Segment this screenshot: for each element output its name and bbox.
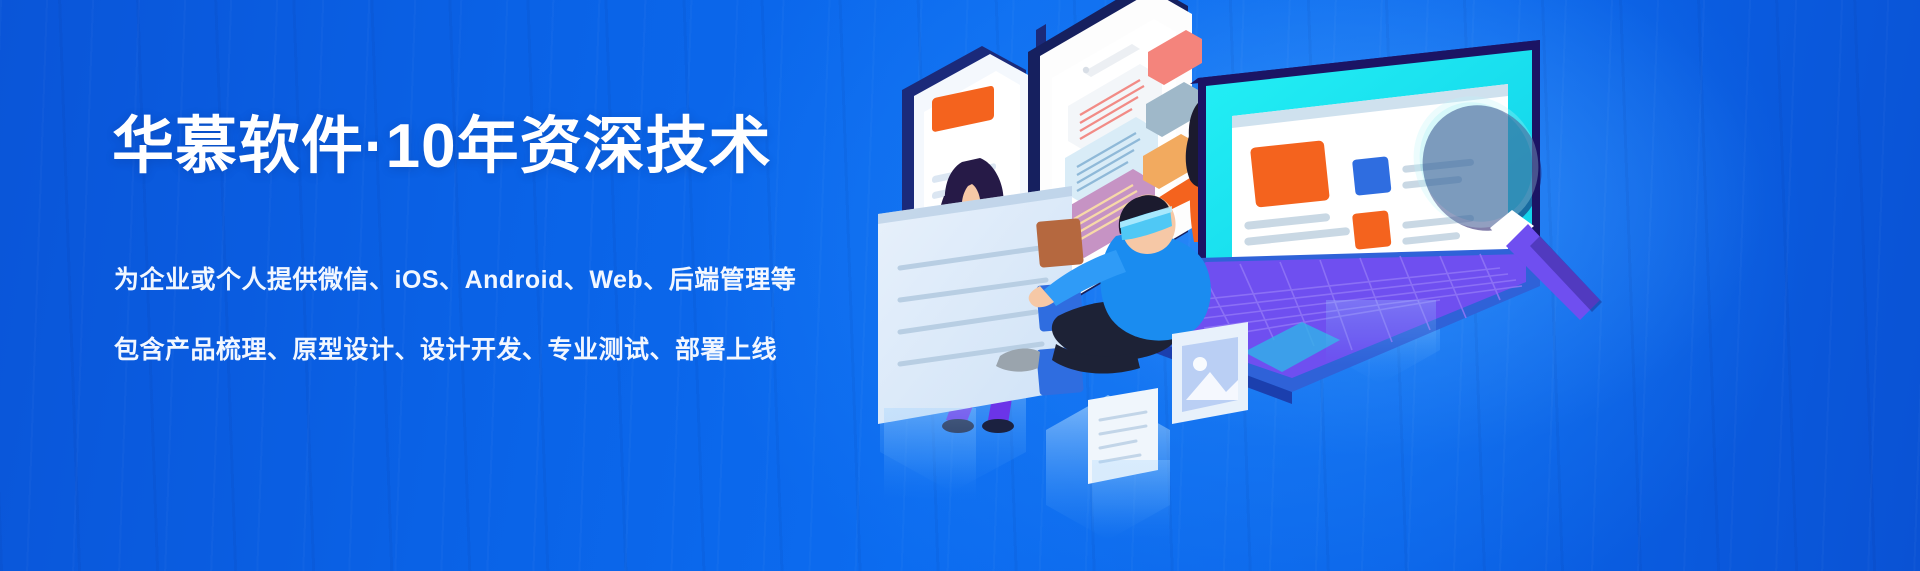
- banner-subtitle-line-1: 为企业或个人提供微信、iOS、Android、Web、后端管理等: [114, 268, 796, 293]
- banner-subtitle-line-2: 包含产品梳理、原型设计、设计开发、专业测试、部署上线: [114, 338, 777, 363]
- banner-headline: 华慕软件·10年资深技术: [112, 116, 772, 178]
- floating-document-card: [878, 186, 1084, 424]
- hero-banner: 华慕软件·10年资深技术 为企业或个人提供微信、iOS、Android、Web、…: [0, 0, 1920, 571]
- floating-image-card: [1172, 322, 1248, 424]
- hero-illustration: [840, 0, 1920, 571]
- banner-copy: 华慕软件·10年资深技术 为企业或个人提供微信、iOS、Android、Web、…: [112, 0, 872, 571]
